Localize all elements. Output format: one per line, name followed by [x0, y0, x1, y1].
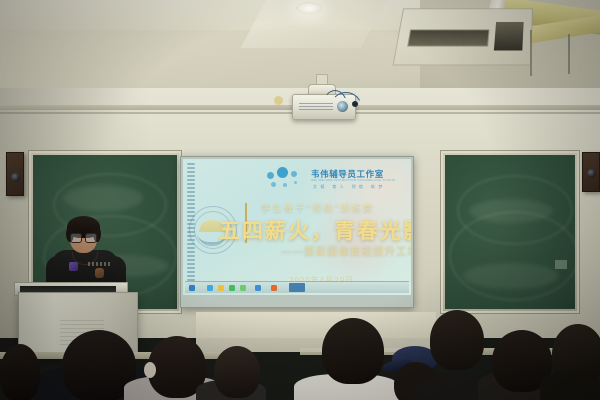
glasses-lens [70, 233, 82, 243]
logo-dot-icon [271, 182, 276, 187]
active-window-button[interactable] [289, 283, 305, 292]
duct-hanger [530, 30, 532, 76]
speaker-cone-icon [587, 169, 596, 178]
tshirt-emblem [95, 268, 104, 278]
presentation-slide: 韦伟辅导员工作室 WEI WEI AND INSTRUCTOR COUNSELL… [183, 159, 411, 295]
projection-screen: 韦伟辅导员工作室 WEI WEI AND INSTRUCTOR COUNSELL… [180, 156, 414, 308]
duct-hanger [568, 34, 570, 74]
blackboard-surface [445, 155, 575, 309]
windows-taskbar[interactable] [185, 281, 409, 293]
logo-dot-icon [267, 172, 274, 179]
studio-logo-subtitle: WEI WEI AND INSTRUCTOR COUNSELLING STUDI… [311, 178, 395, 182]
glasses-lens [85, 233, 97, 243]
speaker-cone-icon [11, 173, 20, 182]
audience-head [430, 310, 484, 370]
wall-speaker-right [582, 152, 600, 192]
slide-subtitle: ——摄影摄像技能提升工坊 [281, 243, 411, 258]
audience-head [214, 346, 260, 398]
tshirt-print [88, 262, 112, 266]
classroom-photo: 韦伟辅导员工作室 WEI WEI AND INSTRUCTOR COUNSELL… [0, 0, 600, 400]
audience-head [322, 318, 384, 384]
logo-dot-icon [294, 181, 297, 184]
cable-connector [352, 101, 358, 107]
logo-dot-icon [291, 171, 297, 177]
studio-logo-tags: 文韬 育人 领航 筑梦 [313, 184, 386, 190]
hair-clip [144, 362, 156, 378]
wall-fixture [274, 96, 283, 105]
edge-icon[interactable] [207, 285, 213, 291]
audience-head [0, 344, 40, 400]
audience-body [540, 372, 600, 400]
logo-dot-icon [283, 183, 287, 187]
presenter-badge [69, 262, 78, 271]
ac-grille-side [494, 22, 524, 51]
slide-main-title: 五四薪火，青春光影 [219, 215, 411, 245]
wall-speaker-left [6, 152, 24, 196]
qq-icon[interactable] [240, 285, 246, 291]
chrome-icon[interactable] [255, 285, 261, 291]
slide-kicker: 学生骨干“领航”训练营 [261, 201, 374, 214]
ac-grille [407, 29, 489, 46]
explorer-icon[interactable] [218, 285, 224, 291]
windows-start-icon[interactable] [189, 285, 195, 291]
recessed-light-icon [296, 2, 322, 14]
blackboard-right [440, 150, 580, 314]
studio-logo: 韦伟辅导员工作室 WEI WEI AND INSTRUCTOR COUNSELL… [267, 166, 407, 192]
logo-dot-icon [277, 167, 288, 178]
presenter-glasses-icon [70, 233, 97, 241]
ac-cassette-unit [393, 8, 533, 65]
wechat-icon[interactable] [229, 285, 235, 291]
wps-icon[interactable] [271, 285, 277, 291]
